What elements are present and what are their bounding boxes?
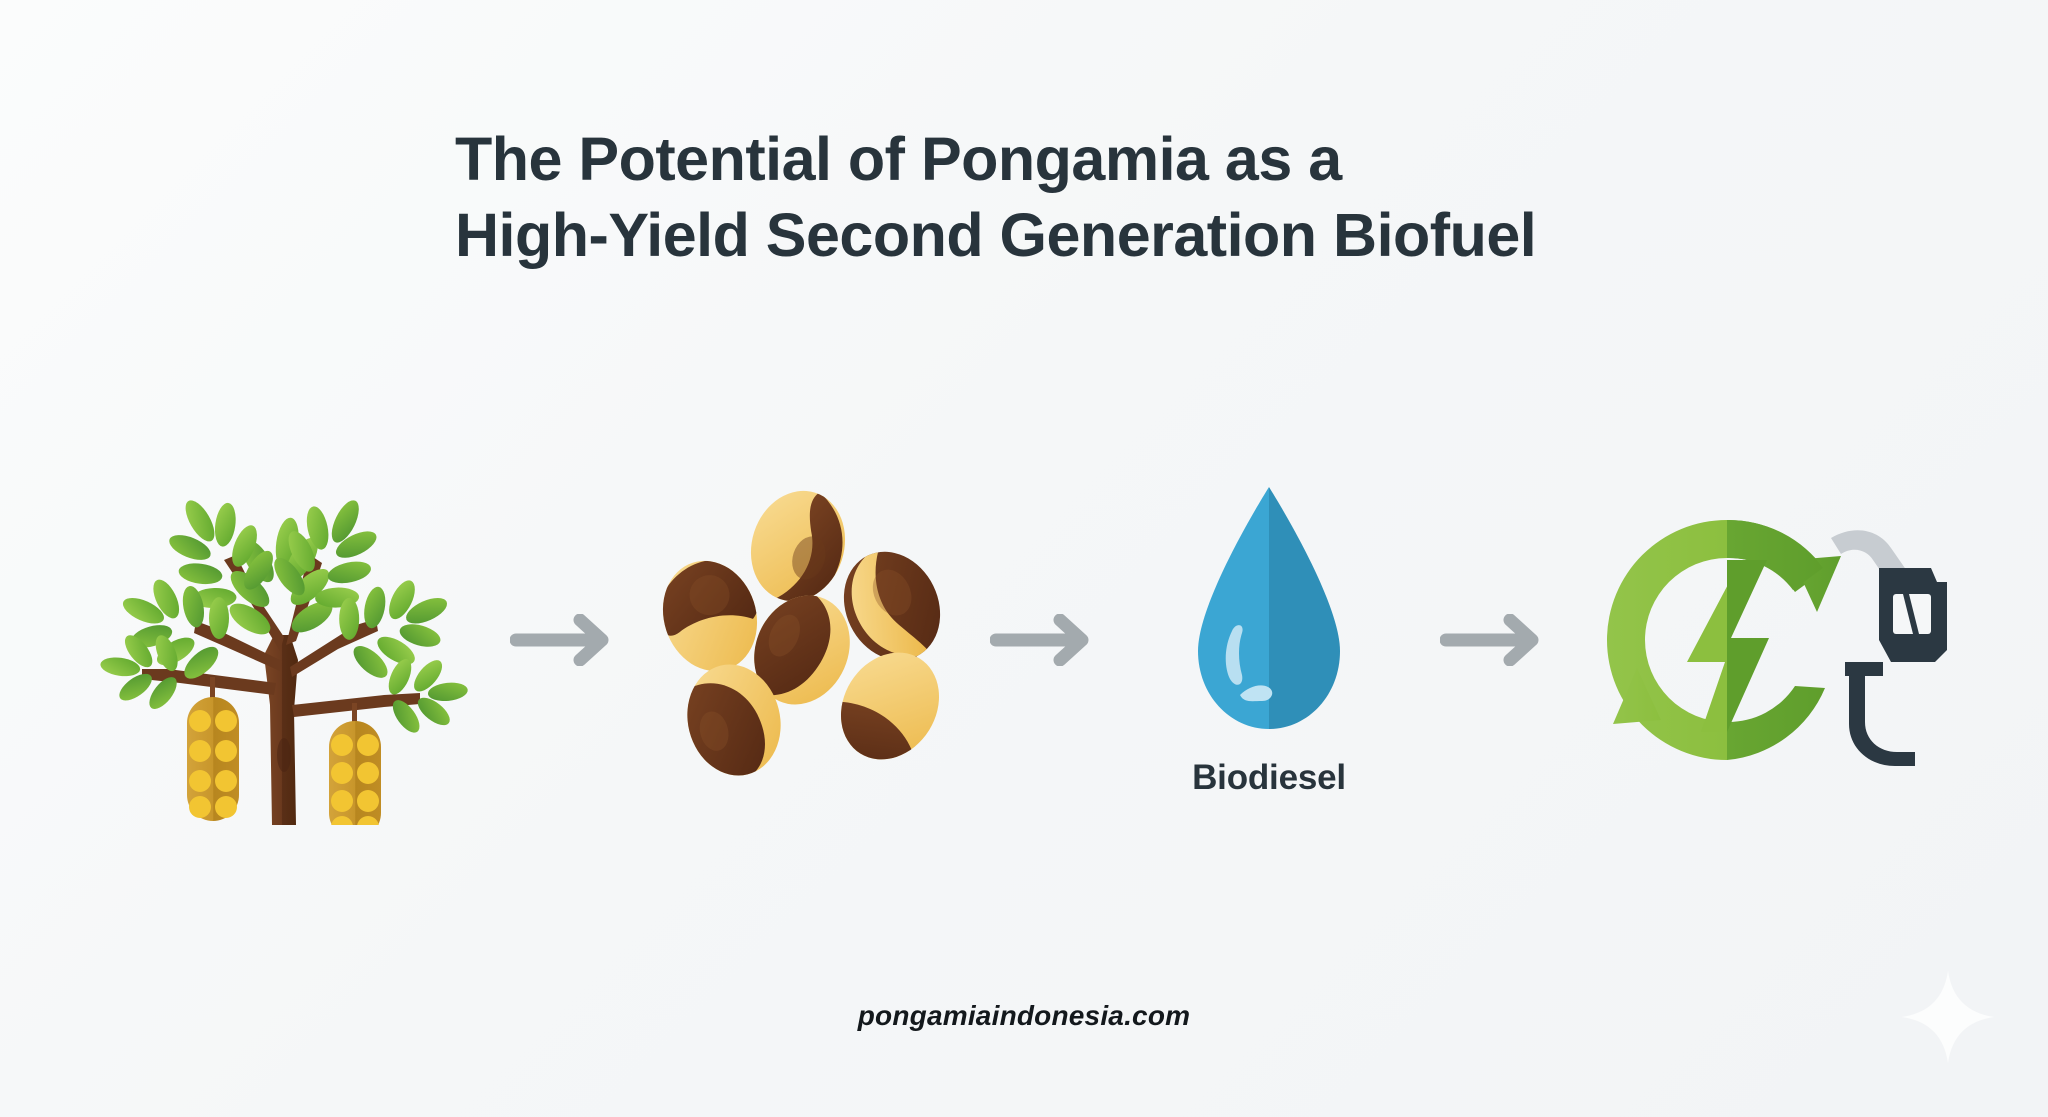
page-title: The Potential of Pongamia as a High-Yiel… xyxy=(455,122,1755,273)
fuel-nozzle-icon xyxy=(1831,530,1947,766)
pongamia-tree-icon xyxy=(84,455,484,825)
title-line-1: The Potential of Pongamia as a xyxy=(455,122,1755,198)
stage-label-biodiesel: Biodiesel xyxy=(1192,758,1346,798)
stage-pongamia-tree xyxy=(79,455,489,825)
renewable-fuel-nozzle-icon xyxy=(1579,490,1959,790)
arrow-right-icon xyxy=(510,614,618,666)
lightning-bolt-icon xyxy=(1687,560,1769,732)
pod-left xyxy=(187,677,239,821)
biodiesel-droplet-icon xyxy=(1184,483,1354,748)
arrow-biodiesel-to-fuel xyxy=(1419,614,1569,666)
arrow-seeds-to-biodiesel xyxy=(969,614,1119,666)
stage-pongamia-seeds xyxy=(639,490,969,790)
stage-biodiesel: Biodiesel xyxy=(1119,483,1419,798)
process-flow: Biodiesel xyxy=(0,430,2048,850)
arrow-tree-to-seeds xyxy=(489,614,639,666)
title-line-2: High-Yield Second Generation Biofuel xyxy=(455,198,1755,274)
pod-right xyxy=(329,703,381,825)
arrow-right-icon xyxy=(990,614,1098,666)
website-url[interactable]: pongamiaindonesia.com xyxy=(858,1000,1190,1031)
pongamia-seeds-icon xyxy=(654,490,954,790)
infographic-canvas: The Potential of Pongamia as a High-Yiel… xyxy=(0,0,2048,1117)
arrow-right-icon xyxy=(1440,614,1548,666)
footer: pongamiaindonesia.com xyxy=(0,1000,2048,1032)
stage-renewable-fuel xyxy=(1569,490,1969,790)
